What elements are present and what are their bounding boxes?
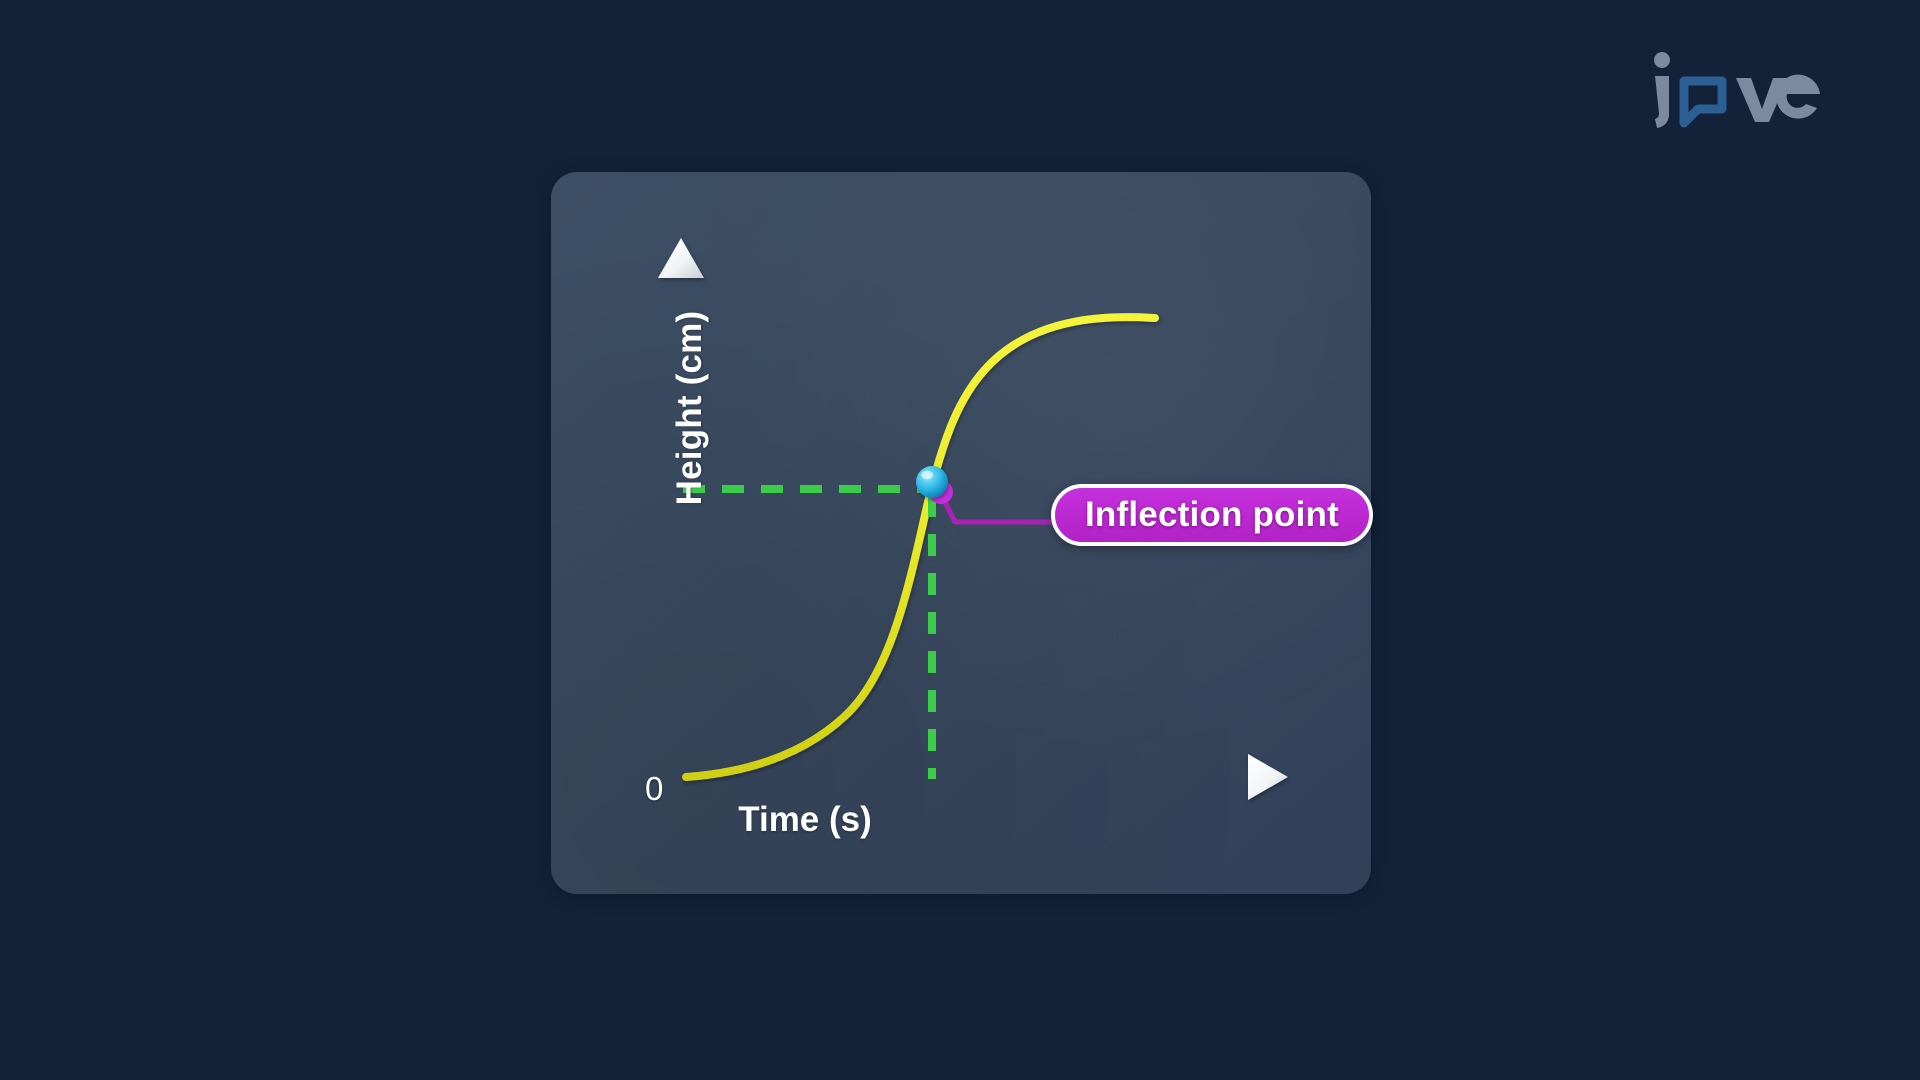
origin-label: 0: [645, 770, 663, 808]
chart-canvas: [0, 0, 1920, 1080]
inflection-point-callout[interactable]: Inflection point: [1051, 484, 1373, 546]
x-axis-title: Time (s): [690, 800, 920, 840]
inflection-point-marker[interactable]: [916, 466, 948, 498]
height-vs-time-curve: [686, 317, 1155, 777]
callout-connector: [929, 480, 1060, 522]
inflection-point-callout-label: Inflection point: [1085, 495, 1339, 535]
x-axis-arrowhead: [1248, 754, 1288, 800]
y-axis-arrowhead: [658, 238, 704, 278]
connector-elbow-line: [940, 492, 1060, 522]
curve-path: [686, 317, 1155, 777]
y-axis-title: Height (cm): [670, 278, 710, 538]
sphere-highlight: [921, 471, 933, 479]
inflection-sphere-icon[interactable]: [916, 466, 948, 498]
